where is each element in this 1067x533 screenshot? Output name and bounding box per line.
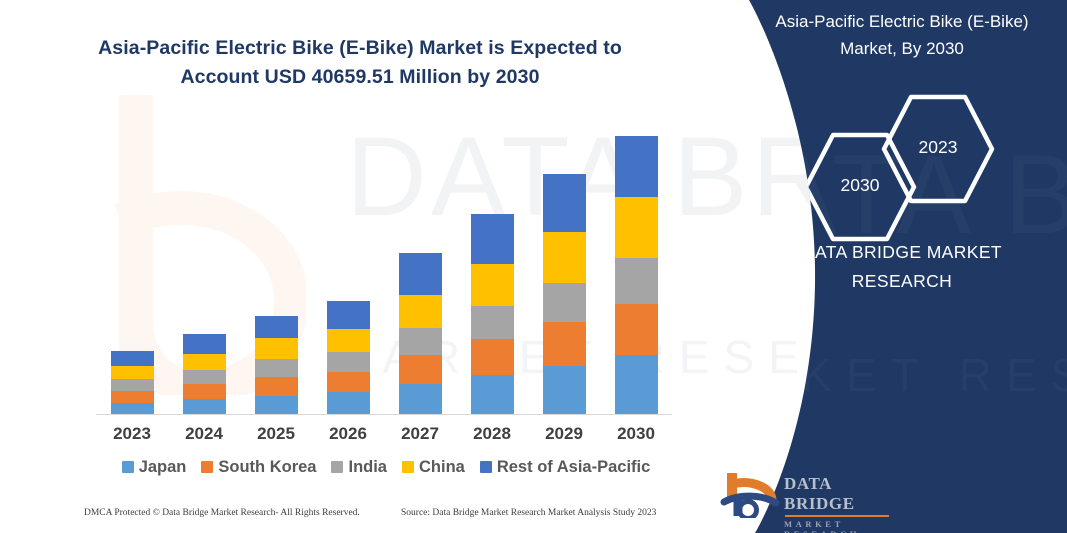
bar-segment-japan-2027[interactable] — [399, 384, 442, 414]
legend-item-japan[interactable]: Japan — [122, 458, 187, 477]
bar-segment-rest-of-asia-pacific-2024[interactable] — [183, 334, 226, 354]
bar-segment-rest-of-asia-pacific-2029[interactable] — [543, 174, 586, 232]
x-axis-label-2026: 2026 — [312, 424, 384, 448]
bar-segment-japan-2023[interactable] — [111, 403, 154, 414]
bar-column-2029[interactable] — [528, 120, 600, 414]
chart-legend: JapanSouth KoreaIndiaChinaRest of Asia-P… — [96, 455, 676, 479]
bar-segment-rest-of-asia-pacific-2026[interactable] — [327, 301, 370, 329]
logo-rule — [785, 515, 889, 517]
bar-segment-india-2030[interactable] — [615, 258, 658, 304]
bar-column-2025[interactable] — [240, 120, 312, 414]
bar-column-2024[interactable] — [168, 120, 240, 414]
bar-segment-south-korea-2028[interactable] — [471, 339, 514, 375]
bar-segment-rest-of-asia-pacific-2023[interactable] — [111, 351, 154, 366]
bar-stack — [543, 174, 586, 414]
bar-segment-japan-2028[interactable] — [471, 375, 514, 414]
side-panel: DATA BRIDGE MARKET RESEARCH Asia-Pacific… — [697, 0, 1067, 533]
bar-segment-china-2030[interactable] — [615, 197, 658, 258]
data-bridge-logo: DATA BRIDGE MARKET RESEARCH — [718, 470, 893, 518]
bar-segment-south-korea-2023[interactable] — [111, 391, 154, 403]
chart-panel: Asia-Pacific Electric Bike (E-Bike) Mark… — [0, 0, 720, 533]
legend-item-china[interactable]: China — [402, 458, 465, 477]
bar-stack — [327, 301, 370, 414]
legend-item-south-korea[interactable]: South Korea — [201, 458, 316, 477]
x-axis-label-2030: 2030 — [600, 424, 672, 448]
bar-column-2028[interactable] — [456, 120, 528, 414]
bar-segment-south-korea-2030[interactable] — [615, 304, 658, 355]
bar-segment-india-2026[interactable] — [327, 352, 370, 372]
bar-series-container — [96, 120, 672, 414]
x-axis-label-2024: 2024 — [168, 424, 240, 448]
bar-segment-rest-of-asia-pacific-2025[interactable] — [255, 316, 298, 338]
hexagon-2023-label: 2023 — [880, 137, 996, 158]
legend-label: South Korea — [218, 458, 316, 477]
bar-segment-south-korea-2029[interactable] — [543, 322, 586, 366]
legend-swatch-icon — [402, 461, 414, 473]
side-panel-title: Asia-Pacific Electric Bike (E-Bike) Mark… — [749, 8, 1055, 62]
legend-item-rest-of-asia-pacific[interactable]: Rest of Asia-Pacific — [480, 458, 650, 477]
bar-segment-japan-2030[interactable] — [615, 355, 658, 414]
bar-segment-india-2023[interactable] — [111, 379, 154, 391]
bar-segment-india-2028[interactable] — [471, 306, 514, 339]
bar-segment-south-korea-2026[interactable] — [327, 372, 370, 392]
side-panel-brand-line2: RESEARCH — [852, 271, 952, 291]
side-panel-brand: DATA BRIDGE MARKET RESEARCH — [749, 238, 1055, 296]
footer-source: Source: Data Bridge Market Research Mark… — [401, 508, 656, 518]
bar-stack — [111, 351, 154, 414]
bar-segment-china-2028[interactable] — [471, 264, 514, 306]
bar-segment-china-2027[interactable] — [399, 295, 442, 328]
bar-segment-china-2029[interactable] — [543, 232, 586, 283]
bar-column-2023[interactable] — [96, 120, 168, 414]
chart-title: Asia-Pacific Electric Bike (E-Bike) Mark… — [60, 34, 660, 92]
x-axis-label-2028: 2028 — [456, 424, 528, 448]
bar-segment-japan-2026[interactable] — [327, 392, 370, 414]
bar-stack — [183, 334, 226, 414]
bar-segment-rest-of-asia-pacific-2027[interactable] — [399, 253, 442, 295]
bar-segment-china-2024[interactable] — [183, 354, 226, 370]
bar-segment-japan-2025[interactable] — [255, 396, 298, 414]
bar-column-2027[interactable] — [384, 120, 456, 414]
bar-stack — [399, 253, 442, 414]
bar-segment-india-2024[interactable] — [183, 370, 226, 384]
bar-segment-india-2025[interactable] — [255, 359, 298, 377]
x-axis-label-2023: 2023 — [96, 424, 168, 448]
bar-stack — [255, 316, 298, 414]
bar-segment-china-2025[interactable] — [255, 338, 298, 359]
bar-segment-china-2023[interactable] — [111, 366, 154, 379]
x-axis-label-2027: 2027 — [384, 424, 456, 448]
legend-swatch-icon — [331, 461, 343, 473]
logo-subtitle: MARKET RESEARCH — [784, 519, 893, 533]
x-axis-line — [96, 414, 672, 415]
hexagon-group: 2030 2023 — [802, 105, 1012, 210]
bar-segment-south-korea-2027[interactable] — [399, 355, 442, 384]
legend-label: Rest of Asia-Pacific — [497, 458, 650, 477]
logo-name: DATA BRIDGE — [784, 474, 893, 514]
footer-copyright: DMCA Protected © Data Bridge Market Rese… — [84, 508, 360, 518]
bar-segment-japan-2029[interactable] — [543, 366, 586, 414]
bar-segment-rest-of-asia-pacific-2030[interactable] — [615, 136, 658, 197]
legend-swatch-icon — [122, 461, 134, 473]
bar-column-2026[interactable] — [312, 120, 384, 414]
bar-segment-south-korea-2025[interactable] — [255, 377, 298, 396]
legend-swatch-icon — [480, 461, 492, 473]
bar-segment-china-2026[interactable] — [327, 329, 370, 352]
legend-item-india[interactable]: India — [331, 458, 387, 477]
x-axis-labels: 20232024202520262027202820292030 — [96, 424, 672, 448]
bar-column-2030[interactable] — [600, 120, 672, 414]
x-axis-label-2025: 2025 — [240, 424, 312, 448]
plot-area — [96, 120, 672, 415]
bar-segment-india-2027[interactable] — [399, 328, 442, 355]
bar-stack — [471, 214, 514, 414]
legend-label: India — [348, 458, 387, 477]
legend-label: Japan — [139, 458, 187, 477]
bar-segment-japan-2024[interactable] — [183, 399, 226, 414]
bar-segment-south-korea-2024[interactable] — [183, 384, 226, 399]
legend-swatch-icon — [201, 461, 213, 473]
bar-stack — [615, 136, 658, 414]
data-bridge-logo-text: DATA BRIDGE MARKET RESEARCH — [784, 474, 893, 533]
bar-segment-rest-of-asia-pacific-2028[interactable] — [471, 214, 514, 264]
side-panel-brand-line1: DATA BRIDGE MARKET — [802, 242, 1002, 262]
infographic-root: DATA BRIDGE MARKET RESEARCH Asia-Pacific… — [0, 0, 1067, 533]
data-bridge-logo-mark-icon — [718, 470, 780, 518]
x-axis-label-2029: 2029 — [528, 424, 600, 448]
bar-segment-india-2029[interactable] — [543, 283, 586, 322]
legend-label: China — [419, 458, 465, 477]
